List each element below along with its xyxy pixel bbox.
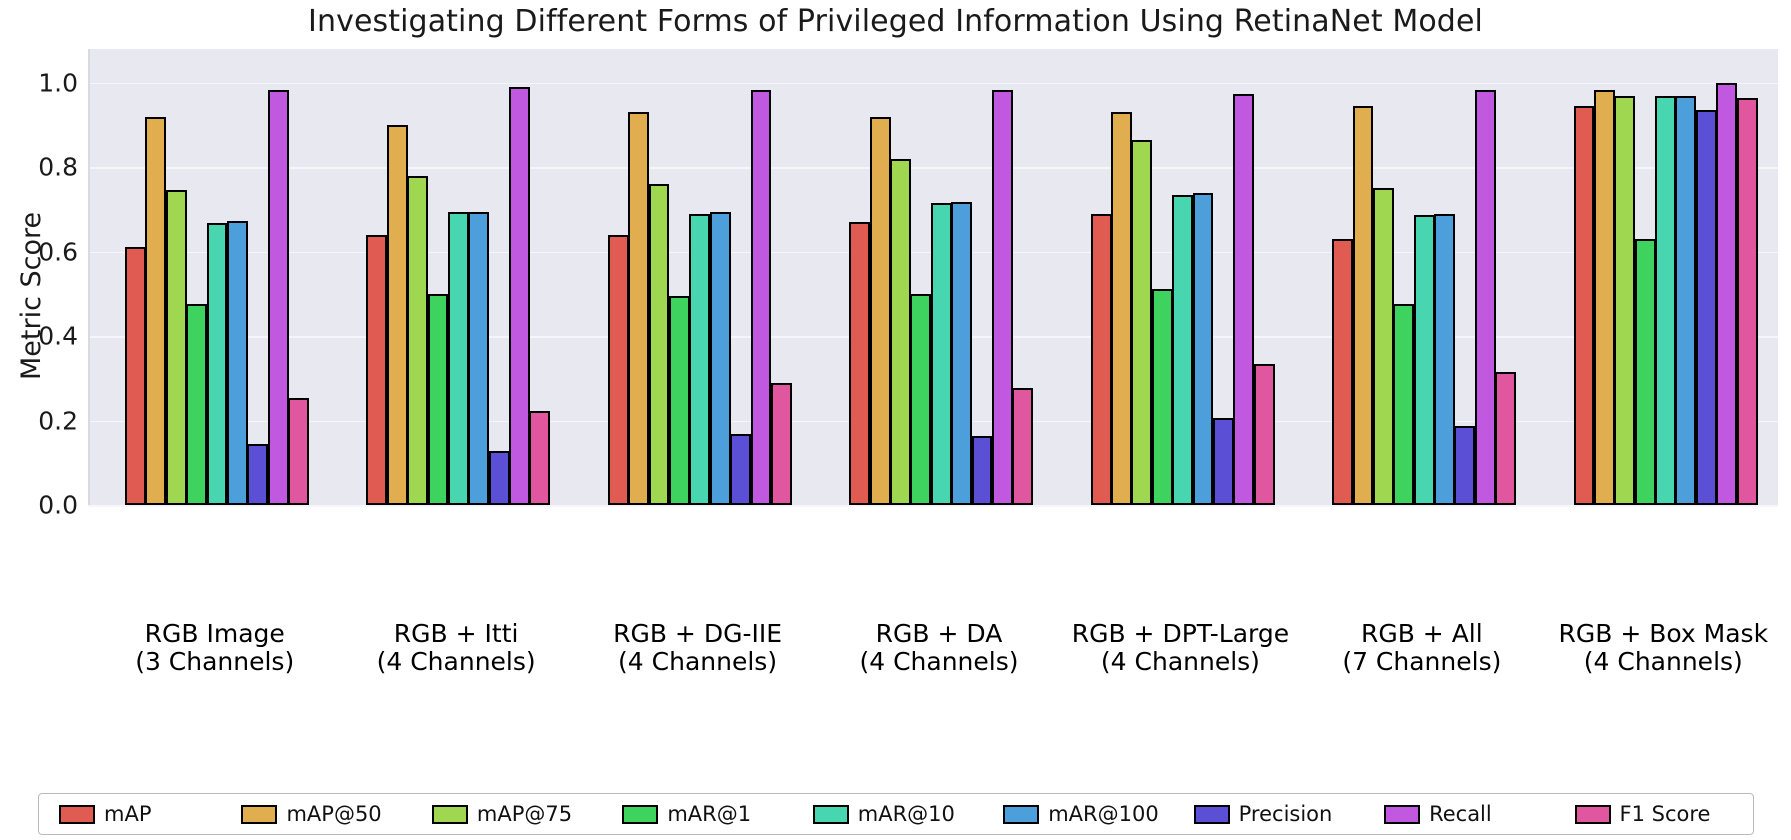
- bar: [771, 383, 792, 505]
- x-tick-channels: (4 Channels): [326, 648, 586, 676]
- x-tick-name: RGB + DG-IIE: [568, 620, 828, 648]
- bar: [1373, 188, 1394, 506]
- x-tick-name: RGB + DA: [809, 620, 1069, 648]
- bar: [125, 247, 146, 505]
- legend-label: F1 Score: [1620, 802, 1711, 826]
- bar: [1635, 239, 1656, 505]
- chart-legend[interactable]: mAPmAP@50mAP@75mAR@1mAR@10mAR@100Precisi…: [38, 793, 1754, 835]
- bar: [1655, 96, 1676, 505]
- legend-swatch: [1194, 805, 1230, 824]
- bar: [1737, 98, 1758, 505]
- bar: [628, 112, 649, 505]
- bar: [1131, 140, 1152, 505]
- bar: [1254, 364, 1275, 505]
- legend-item-mar-100[interactable]: mAR@100: [991, 802, 1181, 826]
- legend-label: mAP@50: [286, 802, 381, 826]
- bar: [751, 90, 772, 505]
- legend-swatch: [432, 805, 468, 824]
- bar: [972, 436, 993, 505]
- x-tick-channels: (3 Channels): [85, 648, 345, 676]
- legend-label: mAP@75: [477, 802, 572, 826]
- bar: [1193, 193, 1214, 505]
- bar: [1475, 90, 1496, 505]
- legend-item-map-75[interactable]: mAP@75: [420, 802, 610, 826]
- bar: [1111, 112, 1132, 505]
- bar: [1495, 372, 1516, 505]
- bar: [1091, 214, 1112, 505]
- legend-item-precision[interactable]: Precision: [1182, 802, 1372, 826]
- bar: [387, 125, 408, 505]
- bar: [1213, 418, 1234, 505]
- chart-root: Investigating Different Forms of Privile…: [0, 0, 1791, 840]
- legend-label: mAR@1: [667, 802, 751, 826]
- bar: [689, 214, 710, 505]
- bar: [448, 212, 469, 505]
- bar: [649, 184, 670, 505]
- x-tick-name: RGB + DPT-Large: [1050, 620, 1310, 648]
- x-axis-tick-label: RGB + DPT-Large(4 Channels): [1050, 620, 1310, 677]
- x-tick-name: RGB Image: [85, 620, 345, 648]
- bar: [910, 294, 931, 505]
- x-axis-tick-label: RGB + DA(4 Channels): [809, 620, 1069, 677]
- bar: [1675, 96, 1696, 505]
- x-tick-channels: (7 Channels): [1292, 648, 1552, 676]
- bar: [1594, 90, 1615, 505]
- legend-item-f1-score[interactable]: F1 Score: [1563, 802, 1753, 826]
- bar: [1233, 94, 1254, 505]
- bar: [529, 411, 550, 505]
- thumbnail-strip: [0, 505, 1791, 615]
- x-axis-tick-label: RGB + Itti(4 Channels): [326, 620, 586, 677]
- bar: [1696, 110, 1717, 505]
- bar: [1353, 106, 1374, 505]
- legend-swatch: [622, 805, 658, 824]
- bar: [931, 203, 952, 505]
- bar: [1414, 215, 1435, 505]
- x-tick-name: RGB + Itti: [326, 620, 586, 648]
- bar: [366, 235, 387, 505]
- legend-item-mar-1[interactable]: mAR@1: [610, 802, 800, 826]
- bar: [227, 221, 248, 505]
- legend-item-map[interactable]: mAP: [39, 802, 229, 826]
- legend-item-recall[interactable]: Recall: [1372, 802, 1562, 826]
- x-tick-name: RGB + All: [1292, 620, 1552, 648]
- bar: [166, 190, 187, 505]
- bar: [288, 398, 309, 505]
- legend-swatch: [813, 805, 849, 824]
- bar: [669, 296, 690, 505]
- x-tick-channels: (4 Channels): [1533, 648, 1791, 676]
- legend-label: Precision: [1239, 802, 1333, 826]
- bar: [1574, 106, 1595, 505]
- bar: [890, 159, 911, 505]
- legend-swatch: [1575, 805, 1611, 824]
- bar: [468, 212, 489, 505]
- bar: [1393, 304, 1414, 505]
- x-axis-tick-label: RGB + DG-IIE(4 Channels): [568, 620, 828, 677]
- bar: [1152, 289, 1173, 505]
- bar: [849, 222, 870, 505]
- bar: [951, 202, 972, 505]
- x-axis-tick-label: RGB + All(7 Channels): [1292, 620, 1552, 677]
- legend-label: mAP: [104, 802, 152, 826]
- bar-series-layer: [0, 0, 1791, 840]
- bar: [145, 117, 166, 505]
- bar: [1172, 195, 1193, 505]
- bar: [608, 235, 629, 505]
- bar: [509, 87, 530, 505]
- legend-item-mar-10[interactable]: mAR@10: [801, 802, 991, 826]
- bar: [186, 304, 207, 505]
- bar: [489, 451, 510, 505]
- bar: [207, 223, 228, 505]
- legend-swatch: [1003, 805, 1039, 824]
- x-tick-channels: (4 Channels): [568, 648, 828, 676]
- legend-swatch: [241, 805, 277, 824]
- x-tick-channels: (4 Channels): [1050, 648, 1310, 676]
- bar: [1332, 239, 1353, 505]
- legend-label: mAR@100: [1048, 802, 1159, 826]
- bar: [730, 434, 751, 505]
- bar: [1434, 214, 1455, 505]
- bar: [1454, 426, 1475, 505]
- x-axis-tick-label: RGB + Box Mask(4 Channels): [1533, 620, 1791, 677]
- legend-item-map-50[interactable]: mAP@50: [229, 802, 419, 826]
- bar: [268, 90, 289, 505]
- bar: [428, 294, 449, 505]
- x-axis-tick-label: RGB Image(3 Channels): [85, 620, 345, 677]
- bar: [870, 117, 891, 505]
- x-tick-channels: (4 Channels): [809, 648, 1069, 676]
- legend-label: mAR@10: [858, 802, 955, 826]
- legend-label: Recall: [1429, 802, 1492, 826]
- x-tick-name: RGB + Box Mask: [1533, 620, 1791, 648]
- bar: [992, 90, 1013, 505]
- bar: [1614, 96, 1635, 505]
- legend-swatch: [59, 805, 95, 824]
- bar: [247, 444, 268, 505]
- legend-swatch: [1384, 805, 1420, 824]
- bar: [710, 212, 731, 505]
- bar: [407, 176, 428, 505]
- bar: [1716, 83, 1737, 505]
- bar: [1012, 388, 1033, 505]
